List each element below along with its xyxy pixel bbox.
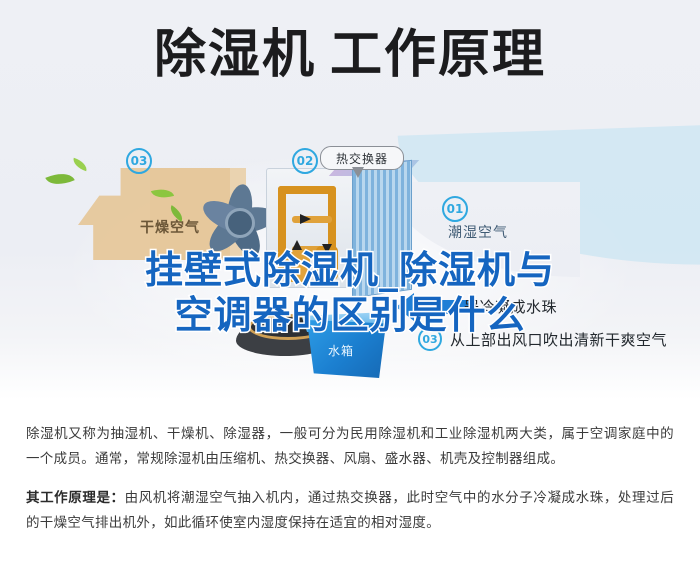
badge-02: 02: [292, 148, 318, 174]
callout-tail: [352, 167, 364, 178]
dry-air-label: 干燥空气: [140, 217, 200, 237]
flow-arrow-right-icon: [300, 214, 311, 224]
page-root: 除湿机工作原理 干燥空气: [0, 0, 700, 566]
page-title-part2: 工作原理: [330, 25, 546, 85]
article-body: 除湿机又称为抽湿机、干燥机、除湿器，一般可分为民用除湿机和工业除湿机两大类，属于…: [0, 400, 700, 566]
paragraph-2: 其工作原理是：由风机将潮湿空气抽入机内，通过热交换器，此时空气中的水分子冷凝成水…: [26, 486, 674, 536]
moist-air-label: 潮湿空气: [448, 222, 508, 242]
paragraph-1: 除湿机又称为抽湿机、干燥机、除湿器，一般可分为民用除湿机和工业除湿机两大类，属于…: [26, 422, 674, 472]
page-title: 除湿机工作原理: [0, 24, 700, 86]
overlay-headline-line1: 挂壁式除湿机_除湿机与: [0, 248, 700, 293]
water-tank-label: 水箱: [328, 342, 354, 359]
fan-hub: [225, 208, 255, 238]
hero-infographic: 除湿机工作原理 干燥空气: [0, 0, 700, 400]
page-title-part1: 除湿机: [154, 25, 316, 85]
refrigerant-pipe: [292, 216, 332, 223]
badge-01: 01: [442, 196, 468, 222]
overlay-headline-line2: 空调器的区别是什么: [0, 293, 700, 338]
overlay-headline: 挂壁式除湿机_除湿机与 空调器的区别是什么: [0, 248, 700, 338]
paragraph-2-lead: 其工作原理是：: [26, 490, 125, 506]
badge-03: 03: [126, 148, 152, 174]
